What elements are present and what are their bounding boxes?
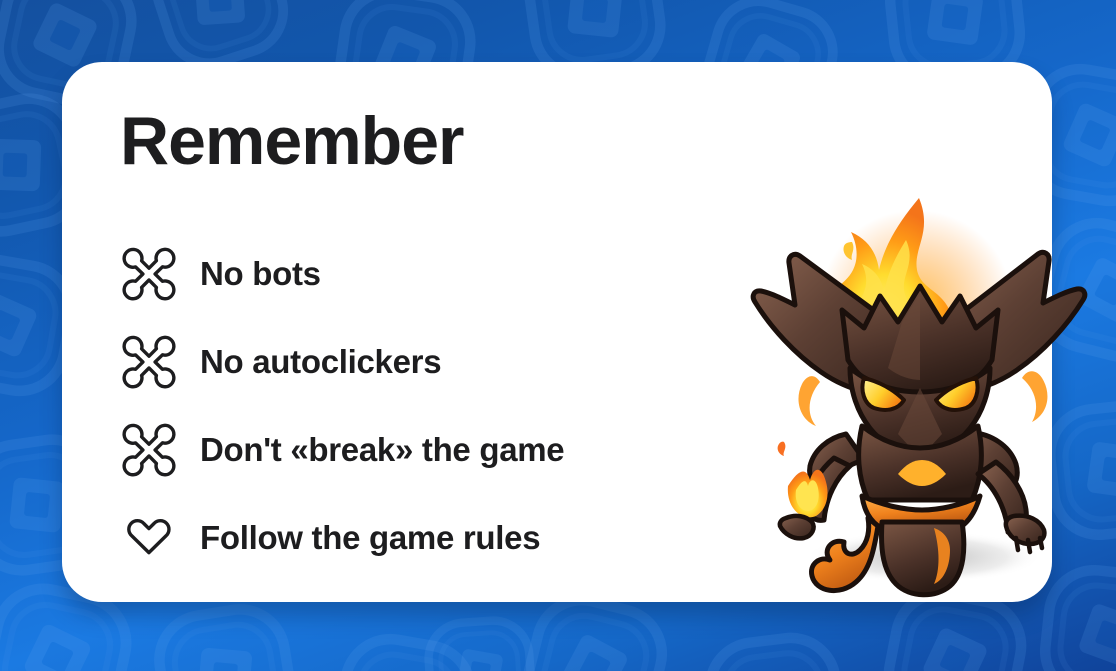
cross-icon	[118, 331, 180, 393]
lower-body	[882, 522, 964, 595]
list-item: Don't «break» the game	[118, 406, 718, 494]
roblox-logo-watermark	[416, 608, 544, 671]
list-item: No bots	[118, 230, 718, 318]
cross-icon	[118, 243, 180, 305]
roblox-logo-watermark	[691, 619, 858, 671]
rules-list: No bots No autoclickers Don't «break» th…	[118, 230, 718, 582]
list-item: No autoclickers	[118, 318, 718, 406]
check-icon	[118, 507, 180, 569]
rules-card: Remember No bots No autoclickers	[62, 62, 1052, 602]
list-item-label: No bots	[200, 255, 321, 293]
page-title: Remember	[120, 102, 464, 180]
list-item-label: No autoclickers	[200, 343, 441, 381]
poster-background: Remember No bots No autoclickers	[0, 0, 1116, 671]
fire-demon-character	[738, 182, 1098, 602]
roblox-logo-watermark	[318, 618, 492, 671]
list-item-label: Follow the game rules	[200, 519, 540, 557]
list-item: Follow the game rules	[118, 494, 718, 582]
list-item-label: Don't «break» the game	[200, 431, 564, 469]
cross-icon	[118, 419, 180, 481]
